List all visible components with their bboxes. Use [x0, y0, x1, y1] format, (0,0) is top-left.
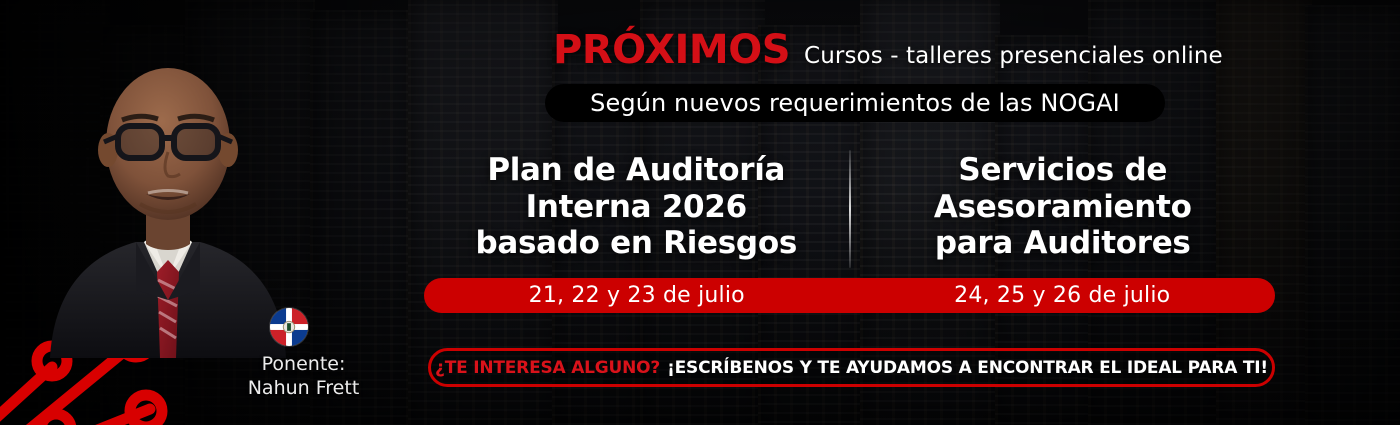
- course-dates-right: 24, 25 y 26 de julio: [850, 283, 1276, 308]
- course-promo-banner: Ponente: Nahun Frett PRÓXIMOS Cursos - t…: [0, 0, 1400, 425]
- course-titles-row: Plan de AuditoríaInterna 2026basado en R…: [424, 150, 1275, 268]
- course-dates-pill: 21, 22 y 23 de julio 24, 25 y 26 de juli…: [424, 278, 1275, 313]
- cta-question: ¿TE INTERESA ALGUNO?: [435, 358, 660, 378]
- course-title-left: Plan de AuditoríaInterna 2026basado en R…: [424, 150, 849, 262]
- speaker-role-label: Ponente:: [196, 352, 411, 376]
- requirements-pill: Según nuevos requerimientos de las NOGAI: [545, 84, 1165, 122]
- cta-button[interactable]: ¿TE INTERESA ALGUNO? ¡ESCRÍBENOS Y TE AY…: [428, 348, 1275, 387]
- speaker-portrait: [40, 28, 295, 358]
- requirements-text: Según nuevos requerimientos de las NOGAI: [590, 89, 1120, 117]
- headline-kicker: PRÓXIMOS: [553, 27, 790, 73]
- speaker-caption: Ponente: Nahun Frett: [196, 352, 411, 401]
- headline: PRÓXIMOS Cursos - talleres presenciales …: [553, 27, 1223, 73]
- course-dates-left: 21, 22 y 23 de julio: [424, 283, 850, 308]
- dominican-republic-flag-icon: [270, 308, 308, 346]
- headline-subtitle: Cursos - talleres presenciales online: [804, 43, 1223, 69]
- course-title-right: Servicios deAsesoramientopara Auditores: [851, 150, 1276, 262]
- cta-answer: ¡ESCRÍBENOS Y TE AYUDAMOS A ENCONTRAR EL…: [667, 358, 1268, 378]
- speaker-name: Nahun Frett: [196, 376, 411, 400]
